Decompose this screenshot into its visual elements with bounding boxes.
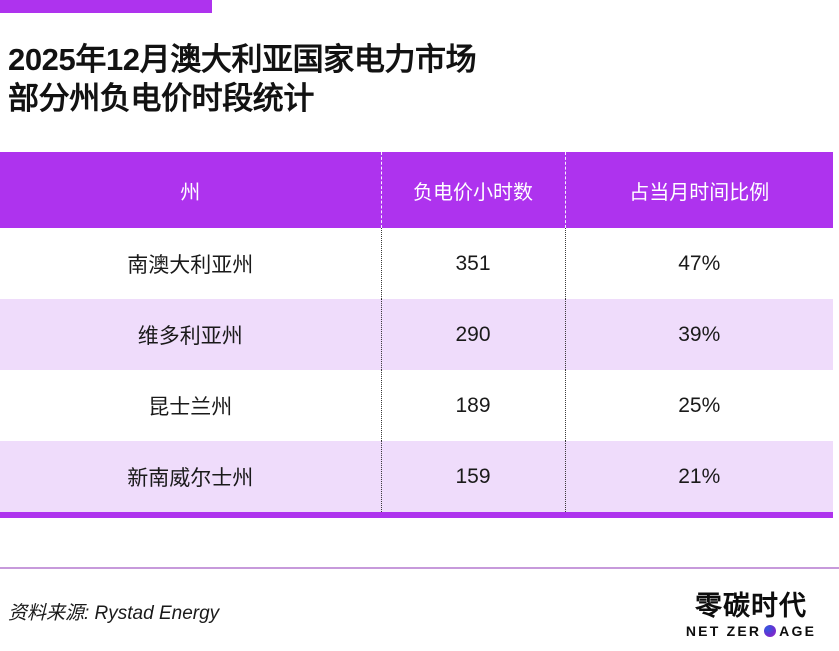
table-header: 州 负电价小时数 占当月时间比例 bbox=[0, 152, 833, 228]
column-header-hours: 负电价小时数 bbox=[381, 152, 565, 228]
column-header-state: 州 bbox=[0, 152, 381, 228]
statistics-table-container: 州 负电价小时数 占当月时间比例 南澳大利亚州 351 47% 维多利亚州 29… bbox=[0, 152, 833, 518]
cell-share: 47% bbox=[565, 228, 833, 299]
page-title-line-1: 2025年12月澳大利亚国家电力市场 bbox=[8, 40, 748, 79]
table-row: 维多利亚州 290 39% bbox=[0, 299, 833, 370]
cell-hours: 351 bbox=[381, 228, 565, 299]
gradient-circle-icon bbox=[764, 625, 776, 637]
brand-logo-chinese: 零碳时代 bbox=[671, 592, 831, 620]
table-row: 昆士兰州 189 25% bbox=[0, 370, 833, 441]
table-body: 南澳大利亚州 351 47% 维多利亚州 290 39% 昆士兰州 189 25… bbox=[0, 228, 833, 515]
cell-share: 21% bbox=[565, 441, 833, 515]
page-title-line-2: 部分州负电价时段统计 bbox=[8, 79, 748, 118]
brand-logo-english-part2: AGE bbox=[779, 623, 816, 639]
cell-state: 新南威尔士州 bbox=[0, 441, 381, 515]
cell-state: 昆士兰州 bbox=[0, 370, 381, 441]
cell-hours: 189 bbox=[381, 370, 565, 441]
statistics-table: 州 负电价小时数 占当月时间比例 南澳大利亚州 351 47% 维多利亚州 29… bbox=[0, 152, 833, 518]
table-row: 新南威尔士州 159 21% bbox=[0, 441, 833, 515]
column-header-share: 占当月时间比例 bbox=[565, 152, 833, 228]
brand-logo-english-part1: NET ZER bbox=[686, 623, 761, 639]
brand-logo: 零碳时代 NET ZER AGE bbox=[671, 592, 831, 639]
cell-state: 南澳大利亚州 bbox=[0, 228, 381, 299]
source-note: 资料来源: Rystad Energy bbox=[8, 598, 219, 625]
top-accent-bar bbox=[0, 0, 212, 13]
cell-hours: 159 bbox=[381, 441, 565, 515]
cell-share: 25% bbox=[565, 370, 833, 441]
cell-share: 39% bbox=[565, 299, 833, 370]
table-header-row: 州 负电价小时数 占当月时间比例 bbox=[0, 152, 833, 228]
page-title: 2025年12月澳大利亚国家电力市场 部分州负电价时段统计 bbox=[8, 40, 748, 118]
cell-state: 维多利亚州 bbox=[0, 299, 381, 370]
cell-hours: 290 bbox=[381, 299, 565, 370]
table-row: 南澳大利亚州 351 47% bbox=[0, 228, 833, 299]
brand-logo-english: NET ZER AGE bbox=[671, 623, 831, 639]
footer-divider bbox=[0, 567, 839, 569]
